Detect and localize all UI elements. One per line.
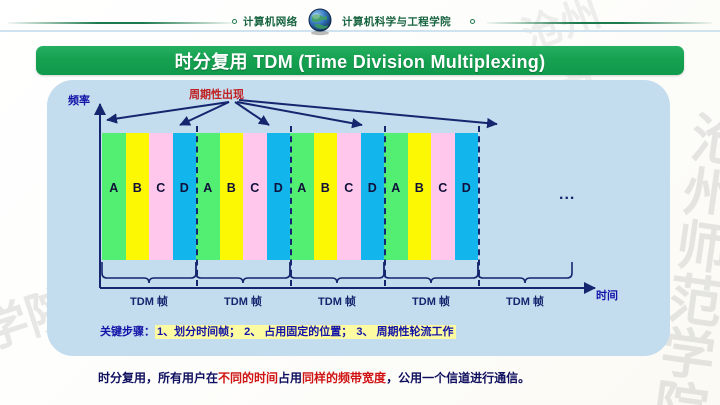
tdm-diagram: 频率 时间 周期性出现 ABCDABCDABCDABCD ... TDM 帧TD… [47, 80, 670, 356]
conclusion-text: 时分复用，所有用户在不同的时间占用同样的频带宽度，公用一个信道进行通信。 [98, 369, 530, 386]
frame-separator-4 [478, 126, 480, 286]
slot-bar-a [384, 133, 408, 260]
slot-bar-c [431, 133, 455, 260]
slot-letter-c: C [436, 181, 450, 195]
slot-bar-a [102, 133, 126, 260]
slot-bar-a [290, 133, 314, 260]
y-axis-label: 频率 [68, 92, 90, 108]
slot-letter-d: D [271, 181, 285, 195]
header-bullet-left-icon [232, 19, 237, 24]
slot-bar-a [196, 133, 220, 260]
header-course-name: 计算机网络 [243, 14, 298, 29]
frame-label-3: TDM 帧 [290, 293, 384, 309]
header-rule-left [8, 22, 233, 24]
header-rule-bottom [0, 30, 720, 32]
header-department-name: 计算机科学与工程学院 [342, 14, 451, 29]
slot-letter-b: B [130, 181, 144, 195]
globe-icon [305, 6, 335, 36]
key-steps-prefix: 关键步骤： [100, 326, 155, 338]
slide-title-banner: 时分复用 TDM (Time Division Multiplexing) [36, 46, 684, 75]
slide-root: 沧州师范学院 学院 沧州师范学院 沧州 计算机网络 计算机科学与工程学院 [0, 0, 720, 405]
diagram-panel: 频率 时间 周期性出现 ABCDABCDABCDABCD ... TDM 帧TD… [47, 80, 670, 356]
slide-header: 计算机网络 计算机科学与工程学院 [0, 0, 720, 36]
frame-label-2: TDM 帧 [196, 293, 290, 309]
slot-bar-b [126, 133, 150, 260]
slot-letter-c: C [248, 181, 262, 195]
slot-bar-d [361, 133, 385, 260]
slot-letter-d: D [177, 181, 191, 195]
conclusion-accent-2: 同样的频带宽度 [302, 371, 386, 385]
slot-letter-a: A [201, 181, 215, 195]
slot-bar-b [408, 133, 432, 260]
conclusion-part-2: 占用 [278, 371, 302, 385]
frame-separator-3 [384, 126, 386, 286]
frame-separator-2 [290, 126, 292, 286]
header-rule-right [487, 22, 712, 24]
slot-letter-c: C [154, 181, 168, 195]
x-axis-label: 时间 [596, 287, 618, 303]
slot-letter-b: B [412, 181, 426, 195]
slot-bar-b [314, 133, 338, 260]
conclusion-part-3: ，公用一个信道进行通信。 [386, 371, 530, 385]
frame-ellipsis: ... [559, 186, 575, 204]
slot-letter-a: A [389, 181, 403, 195]
frame-label-4: TDM 帧 [384, 293, 478, 309]
slot-bar-c [337, 133, 361, 260]
periodic-annotation-label: 周期性出现 [189, 86, 244, 102]
key-step-2: 2、 占用固定的位置； [242, 325, 354, 339]
slot-letter-c: C [342, 181, 356, 195]
slot-bar-d [455, 133, 479, 260]
frame-label-1: TDM 帧 [102, 293, 196, 309]
conclusion-part-1: 时分复用，所有用户在 [98, 371, 218, 385]
slot-letter-d: D [459, 181, 473, 195]
slot-letter-d: D [365, 181, 379, 195]
header-bullet-right-icon [470, 19, 475, 24]
slot-bar-b [220, 133, 244, 260]
slot-bar-d [267, 133, 291, 260]
frame-label-5: TDM 帧 [478, 293, 572, 309]
frame-separator-1 [196, 126, 198, 286]
slot-bar-c [243, 133, 267, 260]
key-steps-line: 关键步骤：1、划分时间帧；2、 占用固定的位置；3、 周期性轮流工作 [100, 323, 620, 339]
page-title: 时分复用 TDM (Time Division Multiplexing) [175, 48, 546, 74]
slot-bar-d [173, 133, 197, 260]
slot-bar-c [149, 133, 173, 260]
slot-letter-b: B [224, 181, 238, 195]
slot-letter-a: A [107, 181, 121, 195]
conclusion-accent-1: 不同的时间 [218, 371, 278, 385]
key-step-3: 3、 周期性轮流工作 [354, 325, 455, 339]
slot-letter-a: A [295, 181, 309, 195]
slot-letter-b: B [318, 181, 332, 195]
key-step-1: 1、划分时间帧； [155, 325, 242, 339]
